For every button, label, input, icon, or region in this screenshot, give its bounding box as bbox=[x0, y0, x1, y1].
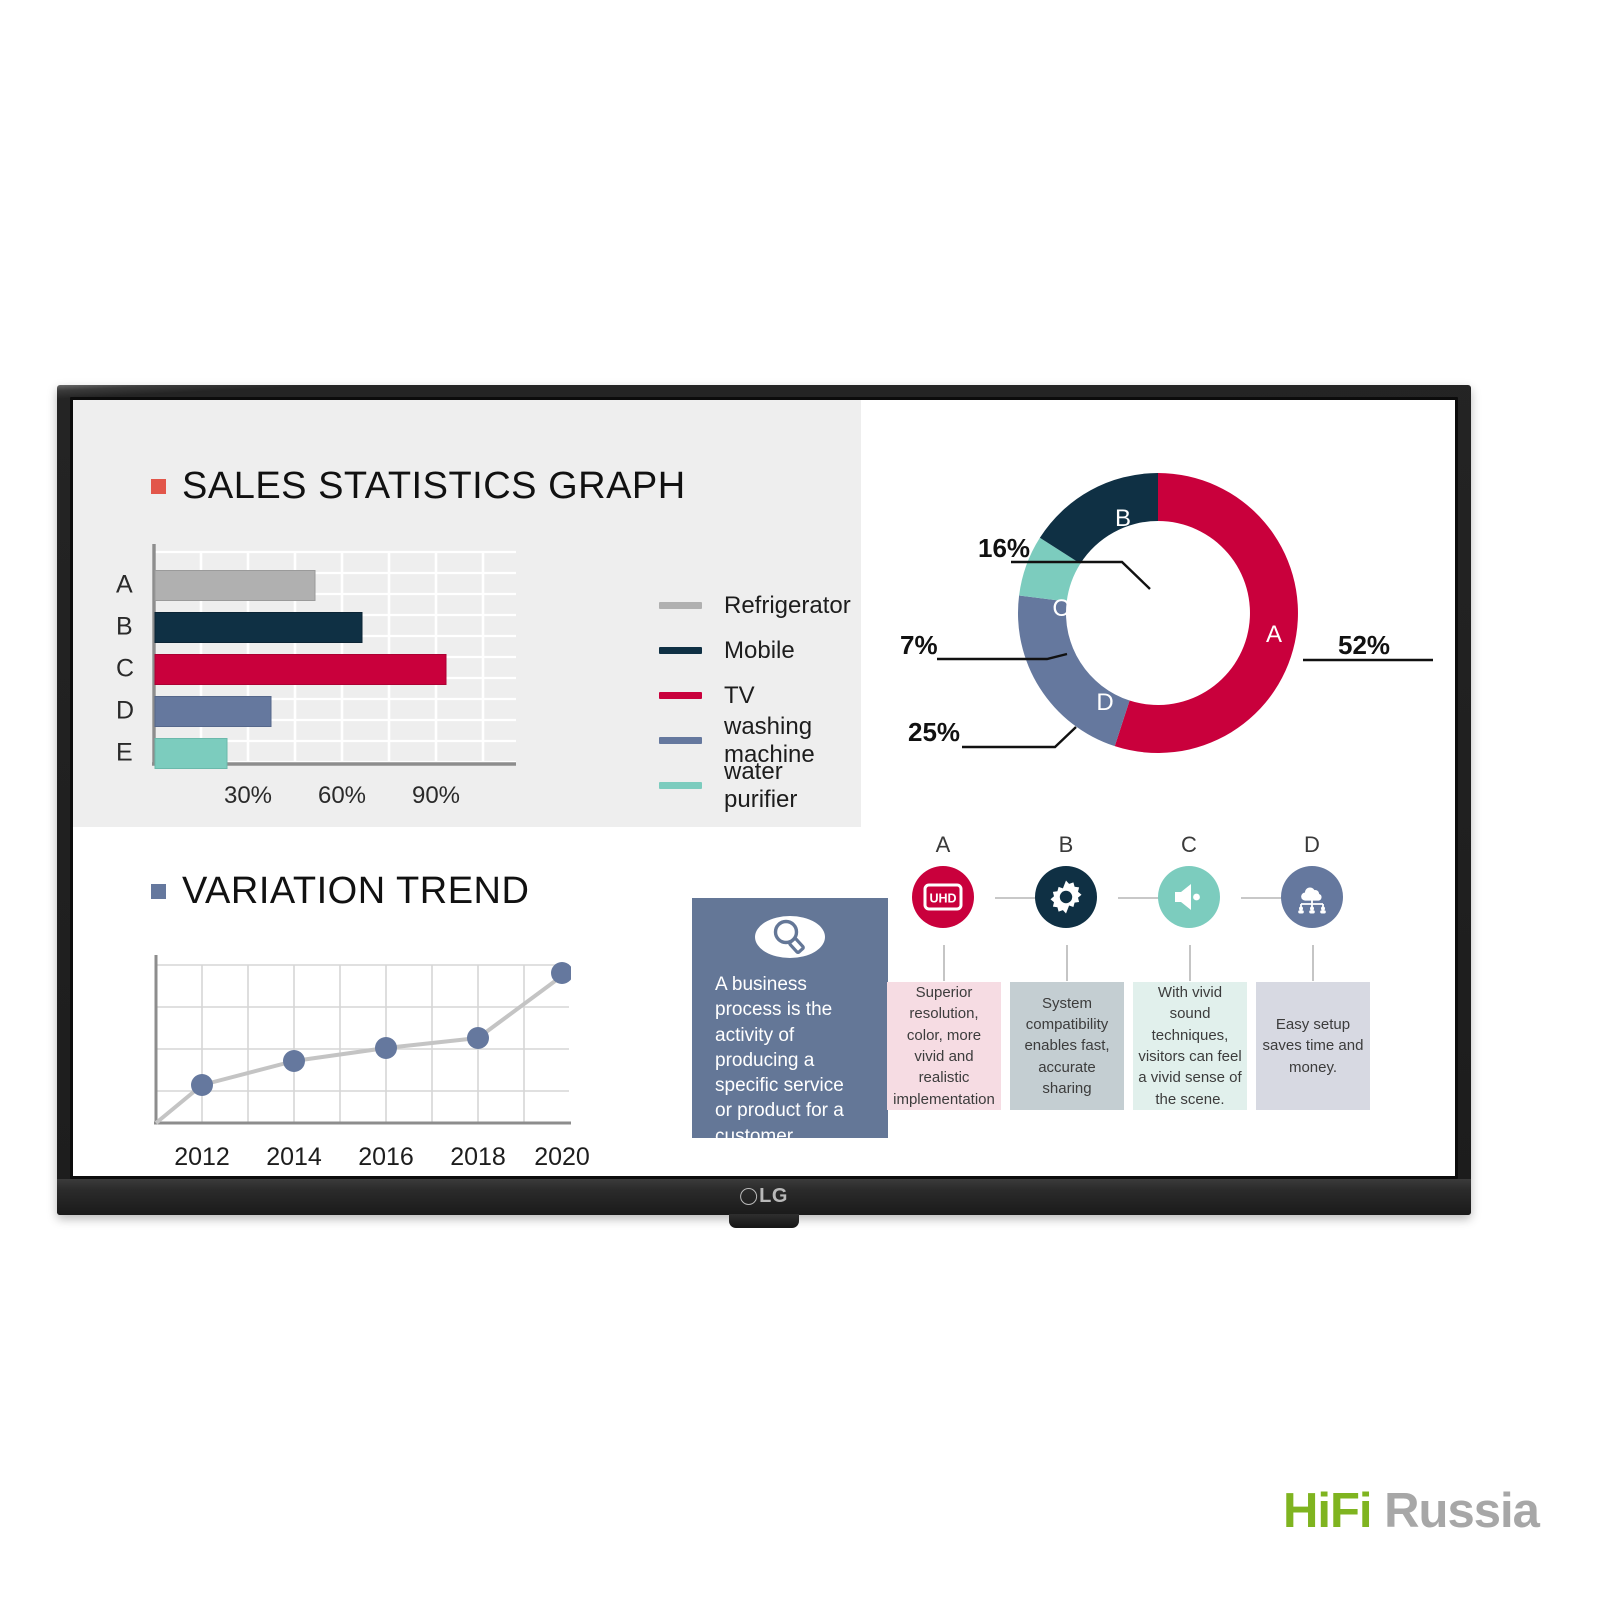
feature-box-d: Easy setup saves time and money. bbox=[1256, 982, 1370, 1110]
heading-bullet-square-blue bbox=[151, 884, 166, 899]
magnifier-icon bbox=[769, 916, 811, 958]
hifi-russia-watermark: HiFi Russia bbox=[1283, 1483, 1539, 1539]
stem-d bbox=[1312, 945, 1314, 981]
legend-swatch-tv bbox=[659, 692, 702, 699]
trend-xtick-2018: 2018 bbox=[450, 1143, 506, 1172]
bar-ylabel-E: E bbox=[116, 739, 133, 768]
trend-xtick-2016: 2016 bbox=[358, 1143, 414, 1172]
gear-glyph bbox=[1049, 880, 1083, 914]
trend-point-2018 bbox=[467, 1027, 489, 1049]
trend-point-2016 bbox=[375, 1037, 397, 1059]
sales-statistics-section: SALES STATISTICS GRAPH bbox=[151, 465, 686, 776]
stem-c bbox=[1189, 945, 1191, 981]
trend-xtick-2014: 2014 bbox=[266, 1143, 322, 1172]
trend-chart-plot bbox=[151, 953, 571, 1133]
watermark-russia: Russia bbox=[1384, 1484, 1539, 1538]
sales-statistics-heading: SALES STATISTICS GRAPH bbox=[151, 465, 686, 508]
bar-ylabel-A: A bbox=[116, 571, 133, 600]
sales-bar-chart: A B C D E 30% 60% 90% bbox=[151, 544, 516, 776]
legend-label-water-purifier: water purifier bbox=[724, 758, 851, 814]
feature-icon-row: A UHD B C bbox=[911, 832, 1431, 942]
stem-b bbox=[1066, 945, 1068, 981]
feature-icon-item-c[interactable]: C bbox=[1139, 832, 1239, 928]
bar-E bbox=[155, 739, 227, 769]
feature-letter-d: D bbox=[1262, 832, 1362, 858]
stem-a bbox=[943, 945, 945, 981]
feature-box-a: Superior resolution, color, more vivid a… bbox=[887, 982, 1001, 1110]
bar-xtick-60: 60% bbox=[318, 782, 366, 810]
feature-letter-a: A bbox=[893, 832, 993, 858]
bar-ylabel-B: B bbox=[116, 613, 133, 642]
legend-item-refrigerator: Refrigerator bbox=[659, 583, 851, 628]
donut-chart bbox=[878, 438, 1438, 778]
donut-chart-section: 16% 7% 25% 52% A B C D bbox=[878, 438, 1438, 778]
legend-swatch-refrigerator bbox=[659, 602, 702, 609]
feature-text-d: Easy setup saves time and money. bbox=[1256, 1014, 1370, 1078]
uhd-glyph: UHD bbox=[923, 883, 963, 911]
feature-box-c: With vivid sound techniques, visitors ca… bbox=[1133, 982, 1247, 1110]
cloud-network-icon[interactable] bbox=[1281, 866, 1343, 928]
bar-A bbox=[155, 571, 315, 601]
cloud-network-glyph bbox=[1294, 880, 1330, 914]
donut-slice-D bbox=[1018, 595, 1130, 746]
variation-trend-section: VARIATION TREND bbox=[151, 870, 571, 1133]
bar-chart-plot bbox=[151, 544, 516, 776]
gear-icon[interactable] bbox=[1035, 866, 1097, 928]
heading-bullet-square-red bbox=[151, 479, 166, 494]
bar-chart-legend: Refrigerator Mobile TV washing machine w… bbox=[659, 583, 851, 808]
feature-icon-item-d[interactable]: D bbox=[1262, 832, 1362, 928]
feature-icon-item-b[interactable]: B bbox=[1016, 832, 1116, 928]
bar-B bbox=[155, 613, 362, 643]
donut-value-A: 52% bbox=[1338, 630, 1390, 661]
legend-label-mobile: Mobile bbox=[724, 637, 795, 665]
donut-value-D: 25% bbox=[908, 717, 960, 748]
legend-item-water-purifier: water purifier bbox=[659, 763, 851, 808]
tv-bottom-chin: LG bbox=[57, 1179, 1471, 1215]
feature-text-c: With vivid sound techniques, visitors ca… bbox=[1133, 982, 1247, 1110]
variation-trend-heading: VARIATION TREND bbox=[151, 870, 571, 913]
variation-trend-line-chart: 2012 2014 2016 2018 2020 bbox=[151, 953, 571, 1133]
feature-letter-b: B bbox=[1016, 832, 1116, 858]
trend-point-2012 bbox=[191, 1074, 213, 1096]
feature-letter-c: C bbox=[1139, 832, 1239, 858]
legend-label-refrigerator: Refrigerator bbox=[724, 592, 851, 620]
trend-xtick-2020: 2020 bbox=[534, 1143, 590, 1172]
legend-item-mobile: Mobile bbox=[659, 628, 851, 673]
tv-screen: SALES STATISTICS GRAPH bbox=[73, 400, 1455, 1176]
legend-swatch-mobile bbox=[659, 647, 702, 654]
feature-icon-item-a[interactable]: A UHD bbox=[893, 832, 993, 928]
feature-text-a: Superior resolution, color, more vivid a… bbox=[887, 982, 1001, 1110]
magnifier-icon-wrapper bbox=[755, 916, 825, 958]
business-process-card: A business process is the activity of pr… bbox=[692, 898, 888, 1138]
bar-C bbox=[155, 655, 446, 685]
bar-D bbox=[155, 697, 271, 727]
donut-label-B: B bbox=[1115, 505, 1131, 533]
legend-label-tv: TV bbox=[724, 682, 755, 710]
trend-point-2014 bbox=[283, 1050, 305, 1072]
callout-line-D bbox=[962, 727, 1076, 747]
legend-swatch-washing-machine bbox=[659, 737, 702, 744]
trend-xtick-2012: 2012 bbox=[174, 1143, 230, 1172]
bar-ylabel-C: C bbox=[116, 655, 134, 684]
legend-item-tv: TV bbox=[659, 673, 851, 718]
watermark-hifi: HiFi bbox=[1283, 1484, 1372, 1538]
bar-xtick-30: 30% bbox=[224, 782, 272, 810]
sales-statistics-title: SALES STATISTICS GRAPH bbox=[182, 465, 686, 508]
tv-stand-nub bbox=[729, 1214, 799, 1228]
legend-item-washing-machine: washing machine bbox=[659, 718, 851, 763]
lg-logo-text: LG bbox=[759, 1185, 788, 1208]
donut-label-D: D bbox=[1096, 689, 1113, 717]
legend-swatch-water-purifier bbox=[659, 782, 702, 789]
variation-trend-title: VARIATION TREND bbox=[182, 870, 529, 913]
donut-label-C: C bbox=[1052, 595, 1069, 623]
donut-value-C: 7% bbox=[900, 630, 938, 661]
lg-display-device: SALES STATISTICS GRAPH bbox=[57, 385, 1471, 1215]
feature-text-b: System compatibility enables fast, accur… bbox=[1010, 993, 1124, 1099]
lg-circle-mark-icon bbox=[740, 1188, 757, 1205]
lg-brand-logo: LG bbox=[740, 1185, 788, 1208]
svg-text:UHD: UHD bbox=[929, 892, 956, 906]
uhd-badge-icon[interactable]: UHD bbox=[912, 866, 974, 928]
business-process-text: A business process is the activity of pr… bbox=[715, 972, 865, 1149]
bar-chart-y-axis: A B C D E bbox=[116, 544, 146, 776]
speaker-glyph bbox=[1172, 882, 1206, 912]
donut-value-B: 16% bbox=[978, 533, 1030, 564]
bar-ylabel-D: D bbox=[116, 697, 134, 726]
bar-xtick-90: 90% bbox=[412, 782, 460, 810]
speaker-icon[interactable] bbox=[1158, 866, 1220, 928]
feature-box-b: System compatibility enables fast, accur… bbox=[1010, 982, 1124, 1110]
donut-label-A: A bbox=[1266, 621, 1282, 649]
